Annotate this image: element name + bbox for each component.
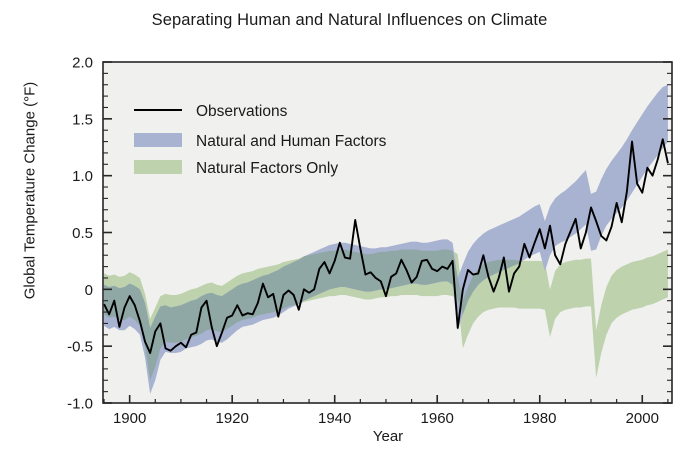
legend-swatch-natural-and-human-factors [134,133,182,147]
y-tick-label: -0.5 [67,339,93,356]
y-axis-label: Global Temperature Change (°F) [22,11,39,371]
x-tick-label: 1980 [523,410,556,427]
y-tick-label: 2.0 [72,55,93,72]
legend-label: Natural Factors Only [196,160,338,177]
legend-label: Natural and Human Factors [196,133,387,150]
climate-chart-figure: Separating Human and Natural Influences … [0,0,699,461]
x-tick-label: 2000 [626,410,659,427]
y-tick-label: 0 [85,282,93,299]
x-axis-label: Year [103,428,673,445]
legend-label: Observations [196,103,288,120]
x-tick-label: 1900 [113,410,146,427]
x-tick-label: 1920 [215,410,248,427]
legend-swatch-natural-factors-only [134,160,182,174]
y-tick-label: -1.0 [67,396,93,413]
y-tick-label: 1.0 [72,168,93,185]
y-tick-label: 0.5 [72,225,93,242]
x-tick-label: 1960 [421,410,454,427]
x-tick-label: 1940 [318,410,351,427]
chart-plot-area: 190019201940196019802000-1.0-0.500.51.01… [0,0,699,461]
y-tick-label: 1.5 [72,111,93,128]
